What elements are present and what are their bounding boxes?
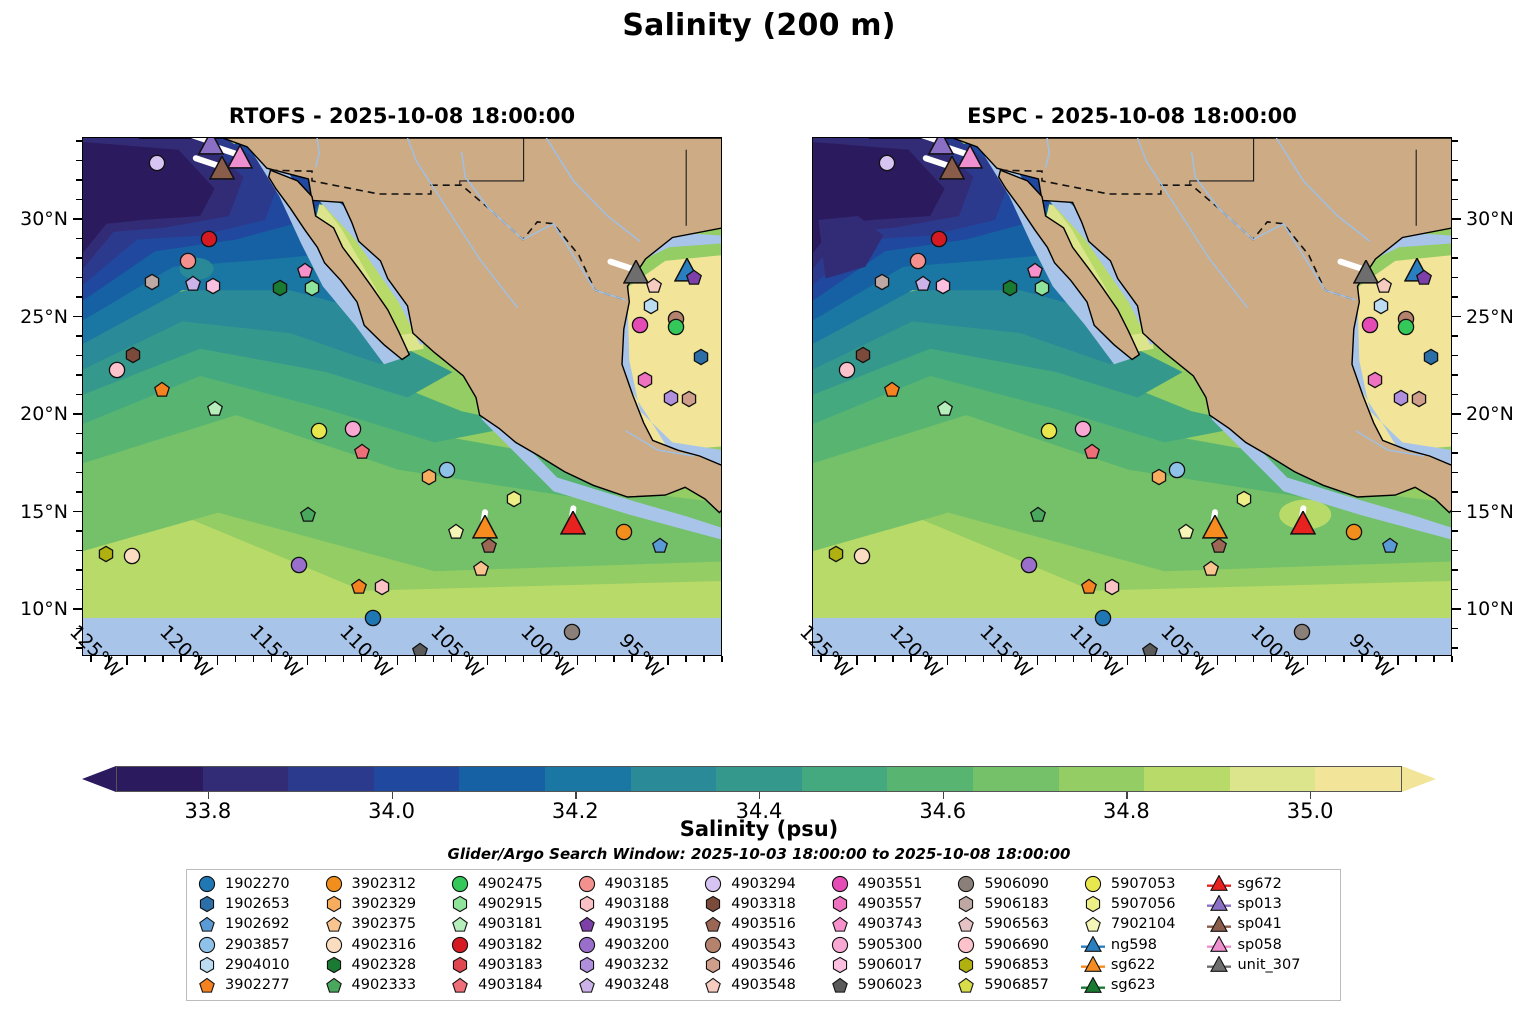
map-marker-4903200[interactable] bbox=[290, 556, 309, 575]
y-axis-tick bbox=[76, 569, 82, 570]
map-marker-4903557[interactable] bbox=[636, 370, 655, 389]
legend-item[interactable]: 2903857 bbox=[195, 935, 322, 955]
legend-item-label: 4903516 bbox=[731, 917, 796, 932]
map-marker-4903200[interactable] bbox=[1020, 556, 1039, 575]
legend-item-label: 1902653 bbox=[225, 897, 290, 912]
colorbar-segment-2 bbox=[288, 767, 374, 791]
legend-item[interactable]: 3902375 bbox=[322, 915, 449, 935]
legend-item-label: 5907056 bbox=[1111, 897, 1176, 912]
x-axis-tick bbox=[343, 656, 344, 662]
map-marker-4902475[interactable] bbox=[667, 318, 686, 337]
map-marker-5907056[interactable] bbox=[504, 489, 523, 508]
legend-item-label: 5906090 bbox=[984, 877, 1049, 892]
map-marker-4903232[interactable] bbox=[661, 388, 680, 407]
legend-item-label: sp013 bbox=[1237, 897, 1281, 912]
y-axis-tick bbox=[1452, 491, 1458, 492]
legend-item[interactable]: 7902104 bbox=[1081, 915, 1208, 935]
colorbar-segment-12 bbox=[1144, 767, 1230, 791]
map-marker-4903195[interactable] bbox=[1415, 269, 1434, 288]
map-marker-3902277b[interactable] bbox=[349, 577, 368, 596]
legend-item-label: 1902692 bbox=[225, 917, 290, 932]
map-marker-4903318[interactable] bbox=[854, 345, 873, 364]
map-marker-1902653[interactable] bbox=[692, 347, 711, 366]
figure-title: Salinity (200 m) bbox=[0, 8, 1518, 43]
legend-item[interactable]: sg622 bbox=[1081, 955, 1208, 975]
map-marker-4903232[interactable] bbox=[1391, 388, 1410, 407]
map-marker-4903546[interactable] bbox=[679, 390, 698, 409]
legend-item[interactable]: 3902277 bbox=[195, 976, 322, 996]
glider-tracks-ESPC bbox=[813, 138, 1452, 656]
y-axis-tick bbox=[1452, 433, 1458, 434]
y-axis-tick bbox=[76, 160, 82, 161]
map-marker-7902104[interactable] bbox=[1177, 523, 1196, 542]
y-axis-tick bbox=[76, 277, 82, 278]
legend-marker-hexagon-icon bbox=[195, 895, 219, 913]
map-marker-sp041[interactable] bbox=[209, 156, 235, 182]
map-marker-3902329[interactable] bbox=[1150, 468, 1169, 487]
map-marker-5906853[interactable] bbox=[827, 544, 846, 563]
map-marker-5905300[interactable] bbox=[344, 419, 363, 438]
map-marker-3902277[interactable] bbox=[153, 380, 172, 399]
map-marker-4903318[interactable] bbox=[124, 345, 143, 364]
y-axis-tick bbox=[1452, 160, 1458, 161]
legend-item[interactable]: 4903318 bbox=[701, 894, 828, 914]
y-axis-tick bbox=[73, 316, 82, 317]
map-marker-5907053[interactable] bbox=[1040, 421, 1059, 440]
map-marker-4903185[interactable] bbox=[178, 251, 197, 270]
x-axis-tick bbox=[595, 656, 596, 662]
legend-item[interactable]: 4903183 bbox=[448, 955, 575, 975]
y-axis-tick bbox=[1452, 374, 1458, 375]
map-marker-sg672[interactable] bbox=[560, 511, 586, 537]
legend-item[interactable]: sg672 bbox=[1207, 874, 1334, 894]
legend-item-label: 4903743 bbox=[858, 917, 923, 932]
colorbar-tick bbox=[1310, 792, 1311, 799]
legend-item-label: 1902270 bbox=[225, 877, 290, 892]
map-marker-4903551[interactable] bbox=[631, 316, 650, 335]
map-marker-sp013[interactable] bbox=[198, 137, 224, 157]
legend-marker-circle-icon bbox=[575, 875, 599, 893]
x-axis-tick bbox=[162, 656, 163, 662]
map-marker-4902915[interactable] bbox=[302, 279, 321, 298]
y-axis-tick bbox=[76, 238, 82, 239]
map-marker-5907053[interactable] bbox=[310, 421, 329, 440]
legend-item[interactable]: 4903195 bbox=[575, 915, 702, 935]
map-marker-5906090[interactable] bbox=[562, 622, 581, 641]
legend-item-label: 4903248 bbox=[605, 978, 670, 993]
colorbar-segment-13 bbox=[1230, 767, 1316, 791]
y-axis-tick bbox=[1452, 238, 1458, 239]
x-axis-tick bbox=[1433, 656, 1434, 662]
map-marker-5906183[interactable] bbox=[142, 273, 161, 292]
legend-item-label: sp041 bbox=[1237, 917, 1281, 932]
y-axis-tick bbox=[76, 394, 82, 395]
panel-title-rtofs: RTOFS - 2025-10-08 18:00:00 bbox=[82, 104, 722, 128]
legend-item[interactable]: 5906183 bbox=[954, 894, 1081, 914]
map-marker-4903181[interactable] bbox=[205, 400, 224, 419]
legend-marker-circle-icon bbox=[322, 936, 346, 954]
map-marker-5906017[interactable] bbox=[933, 277, 952, 296]
map-marker-5907056[interactable] bbox=[1234, 489, 1253, 508]
glider-tracks-RTOFS bbox=[83, 138, 722, 656]
map-marker-sp041[interactable] bbox=[939, 156, 965, 182]
legend-marker-hexagon-icon bbox=[954, 895, 978, 913]
legend-item-label: 3902329 bbox=[352, 897, 417, 912]
map-marker-3902375[interactable] bbox=[472, 560, 491, 579]
legend-marker-hexagon-icon bbox=[954, 956, 978, 974]
map-canvas-espc[interactable] bbox=[812, 137, 1452, 656]
colorbar-segment-14 bbox=[1315, 767, 1401, 791]
y-axis-tick bbox=[76, 296, 82, 297]
y-axis-tick bbox=[1452, 608, 1461, 609]
legend-marker-triangle-icon bbox=[1081, 977, 1105, 995]
legend-item[interactable]: 5906017 bbox=[828, 955, 955, 975]
x-axis-tick bbox=[856, 656, 857, 665]
map-marker-1902692[interactable] bbox=[650, 536, 669, 555]
y-axis-tick bbox=[1452, 511, 1461, 512]
legend-item[interactable]: 4902328 bbox=[322, 955, 449, 975]
legend-item-label: 4903183 bbox=[478, 958, 543, 973]
legend-item-label: 4903185 bbox=[605, 877, 670, 892]
map-marker-4903181[interactable] bbox=[935, 400, 954, 419]
legend-item-label: 5906690 bbox=[984, 938, 1049, 953]
legend-item[interactable]: 3902312 bbox=[322, 874, 449, 894]
map-marker-7902104[interactable] bbox=[447, 523, 466, 542]
legend-item-label: 4902915 bbox=[478, 897, 543, 912]
legend-item-label: 2904010 bbox=[225, 958, 290, 973]
colorbar: 33.834.034.234.434.634.835.0 bbox=[82, 766, 1436, 792]
legend-marker-pentagon-icon bbox=[195, 916, 219, 934]
map-marker-2903857[interactable] bbox=[1168, 460, 1187, 479]
legend-marker-hexagon-icon bbox=[701, 895, 725, 913]
x-axis-tick bbox=[613, 656, 614, 662]
y-axis-tick bbox=[76, 433, 82, 434]
legend-marker-pentagon-icon bbox=[954, 916, 978, 934]
map-marker-4903182[interactable] bbox=[930, 230, 949, 249]
map-marker-4902333[interactable] bbox=[1029, 505, 1048, 524]
colorbar-segment-6 bbox=[631, 767, 717, 791]
map-marker-4903185[interactable] bbox=[908, 251, 927, 270]
map-marker-4903294[interactable] bbox=[147, 154, 166, 173]
x-axis-tick bbox=[144, 656, 145, 662]
legend-item-label: 4903195 bbox=[605, 917, 670, 932]
map-marker-3902277b[interactable] bbox=[1079, 577, 1098, 596]
map-canvas-rtofs[interactable] bbox=[82, 137, 722, 656]
y-axis-tick bbox=[1452, 257, 1458, 258]
legend-marker-hexagon-icon bbox=[828, 956, 852, 974]
legend-item[interactable]: 4903294 bbox=[701, 874, 828, 894]
map-marker-4903743[interactable] bbox=[1025, 261, 1044, 280]
map-marker-4903557[interactable] bbox=[1366, 370, 1385, 389]
legend-item[interactable]: 4903248 bbox=[575, 976, 702, 996]
map-marker-4903516[interactable] bbox=[479, 536, 498, 555]
x-axis-tick bbox=[685, 656, 686, 662]
legend-marker-circle-icon bbox=[954, 875, 978, 893]
y-axis-tick bbox=[1452, 628, 1458, 629]
legend-item[interactable]: 5906853 bbox=[954, 955, 1081, 975]
y-axis-tick bbox=[1452, 394, 1458, 395]
y-axis-label: 20°N bbox=[20, 403, 68, 425]
legend-item[interactable]: 4902475 bbox=[448, 874, 575, 894]
map-marker-sg672[interactable] bbox=[1290, 511, 1316, 537]
x-axis-tick bbox=[523, 656, 524, 662]
legend-marker-circle-icon bbox=[828, 875, 852, 893]
map-marker-5906690[interactable] bbox=[108, 361, 127, 380]
map-marker-4902328[interactable] bbox=[1000, 279, 1019, 298]
legend-item[interactable]: unit_307 bbox=[1207, 955, 1334, 975]
legend-item[interactable]: 4902915 bbox=[448, 894, 575, 914]
y-axis-tick bbox=[1452, 452, 1458, 453]
legend-item[interactable]: 4903185 bbox=[575, 874, 702, 894]
map-marker-5906017[interactable] bbox=[203, 277, 222, 296]
map-marker-4902915[interactable] bbox=[1032, 279, 1051, 298]
legend-marker-pentagon-icon bbox=[828, 916, 852, 934]
map-marker-2903857[interactable] bbox=[438, 460, 457, 479]
legend-marker-circle-icon bbox=[954, 936, 978, 954]
map-marker-5906853[interactable] bbox=[97, 544, 116, 563]
legend-item-label: unit_307 bbox=[1237, 958, 1300, 973]
y-axis-tick bbox=[76, 491, 82, 492]
legend-item[interactable]: 4903188 bbox=[575, 894, 702, 914]
legend-item-label: 5906563 bbox=[984, 917, 1049, 932]
legend-item-label: 4903557 bbox=[858, 897, 923, 912]
map-marker-4903184[interactable] bbox=[1083, 443, 1102, 462]
map-marker-4903188[interactable] bbox=[373, 577, 392, 596]
y-axis-tick bbox=[76, 199, 82, 200]
y-axis-tick bbox=[73, 218, 82, 219]
platform-legend[interactable]: 1902270190265319026922903857290401039022… bbox=[186, 869, 1341, 1001]
map-marker-1902692[interactable] bbox=[1380, 536, 1399, 555]
legend-marker-pentagon-icon bbox=[195, 977, 219, 995]
legend-item[interactable]: sg623 bbox=[1081, 976, 1208, 996]
legend-item[interactable]: 4903548 bbox=[701, 976, 828, 996]
legend-marker-circle-icon bbox=[195, 875, 219, 893]
legend-item[interactable]: 4902333 bbox=[322, 976, 449, 996]
x-axis-tick bbox=[1037, 656, 1038, 665]
legend-item-label: 4902328 bbox=[352, 958, 417, 973]
colorbar-label: Salinity (psu) bbox=[0, 817, 1518, 841]
map-marker-4903248[interactable] bbox=[913, 275, 932, 294]
legend-marker-pentagon-icon bbox=[1081, 916, 1105, 934]
map-marker-1902270[interactable] bbox=[364, 608, 383, 627]
legend-item[interactable]: 4903551 bbox=[828, 874, 955, 894]
legend-item-label: 4903188 bbox=[605, 897, 670, 912]
legend-marker-pentagon-icon bbox=[701, 916, 725, 934]
legend-item[interactable]: 4903546 bbox=[701, 955, 828, 975]
map-marker-1902653[interactable] bbox=[1422, 347, 1441, 366]
x-axis-tick bbox=[1217, 656, 1218, 665]
legend-item[interactable]: 4903184 bbox=[448, 976, 575, 996]
legend-marker-pentagon-icon bbox=[322, 916, 346, 934]
legend-item[interactable]: 5907056 bbox=[1081, 894, 1208, 914]
legend-item[interactable]: 1902653 bbox=[195, 894, 322, 914]
legend-item[interactable]: 4903182 bbox=[448, 935, 575, 955]
map-marker-sp013[interactable] bbox=[928, 137, 954, 157]
map-marker-4903546[interactable] bbox=[1409, 390, 1428, 409]
x-axis-tick bbox=[1397, 656, 1398, 665]
map-marker-1902270[interactable] bbox=[1094, 608, 1113, 627]
legend-marker-triangle-icon bbox=[1207, 895, 1231, 913]
y-axis-tick bbox=[76, 140, 82, 141]
legend-marker-hexagon-icon bbox=[575, 895, 599, 913]
y-axis-tick bbox=[1452, 355, 1458, 356]
map-marker-4902333[interactable] bbox=[299, 505, 318, 524]
x-axis-tick bbox=[1163, 656, 1164, 662]
legend-item[interactable]: 4903543 bbox=[701, 935, 828, 955]
legend-marker-hexagon-icon bbox=[828, 895, 852, 913]
legend-item-label: 4903232 bbox=[605, 958, 670, 973]
x-axis-tick bbox=[325, 656, 326, 662]
map-marker-4902475[interactable] bbox=[1397, 318, 1416, 337]
map-marker-3902277[interactable] bbox=[883, 380, 902, 399]
legend-item[interactable]: 5907053 bbox=[1081, 874, 1208, 894]
legend-item[interactable]: 4903232 bbox=[575, 955, 702, 975]
legend-item-label: 4903543 bbox=[731, 938, 796, 953]
map-marker-4903551[interactable] bbox=[1361, 316, 1380, 335]
legend-marker-hexagon-icon bbox=[322, 895, 346, 913]
legend-item-label: 3902312 bbox=[352, 877, 417, 892]
map-marker-4903743[interactable] bbox=[295, 261, 314, 280]
legend-marker-pentagon-icon bbox=[828, 977, 852, 995]
map-marker-4903188[interactable] bbox=[1103, 577, 1122, 596]
x-axis-tick bbox=[253, 656, 254, 662]
map-marker-4902316[interactable] bbox=[852, 546, 871, 565]
legend-item[interactable]: 4903743 bbox=[828, 915, 955, 935]
legend-item[interactable]: 4903557 bbox=[828, 894, 955, 914]
legend-marker-hexagon-icon bbox=[1081, 895, 1105, 913]
y-axis-label: 25°N bbox=[20, 306, 68, 328]
map-marker-4903195[interactable] bbox=[685, 269, 704, 288]
x-axis-tick bbox=[1253, 656, 1254, 662]
x-axis-tick bbox=[307, 656, 308, 665]
map-marker-2904010[interactable] bbox=[641, 296, 660, 315]
map-panel-espc: ESPC - 2025-10-08 18:00:00 30°N25°N20°N1… bbox=[812, 137, 1452, 656]
legend-marker-circle-icon bbox=[322, 875, 346, 893]
x-axis-tick bbox=[947, 656, 948, 665]
map-marker-5905300[interactable] bbox=[1074, 419, 1093, 438]
map-marker-4903516[interactable] bbox=[1209, 536, 1228, 555]
map-marker-3902312[interactable] bbox=[1344, 523, 1363, 542]
legend-marker-triangle-icon bbox=[1207, 875, 1231, 893]
x-axis-tick bbox=[126, 656, 127, 665]
y-axis-tick bbox=[1452, 335, 1458, 336]
map-marker-5906183[interactable] bbox=[872, 273, 891, 292]
map-marker-4903184[interactable] bbox=[353, 443, 372, 462]
x-axis-tick bbox=[1325, 656, 1326, 662]
map-marker-3902375[interactable] bbox=[1202, 560, 1221, 579]
map-marker-5906690[interactable] bbox=[838, 361, 857, 380]
map-marker-4903182[interactable] bbox=[200, 230, 219, 249]
legend-item[interactable]: 2904010 bbox=[195, 955, 322, 975]
colorbar-tick bbox=[1126, 792, 1127, 799]
y-axis-label: 20°N bbox=[1466, 403, 1514, 425]
legend-item-label: 2903857 bbox=[225, 938, 290, 953]
legend-grid: 1902270190265319026922903857290401039022… bbox=[195, 874, 1334, 996]
map-marker-3902329[interactable] bbox=[420, 468, 439, 487]
map-marker-5906023[interactable] bbox=[411, 642, 430, 656]
colorbar-segment-8 bbox=[802, 767, 888, 791]
legend-item[interactable]: ng598 bbox=[1081, 935, 1208, 955]
y-axis-tick bbox=[1452, 569, 1458, 570]
map-marker-3902312[interactable] bbox=[614, 523, 633, 542]
colorbar-segment-9 bbox=[887, 767, 973, 791]
legend-item[interactable]: 1902692 bbox=[195, 915, 322, 935]
x-axis-tick bbox=[415, 656, 416, 662]
legend-item[interactable]: sp041 bbox=[1207, 915, 1334, 935]
map-marker-4903248[interactable] bbox=[183, 275, 202, 294]
colorbar-segment-11 bbox=[1059, 767, 1145, 791]
map-marker-4903294[interactable] bbox=[877, 154, 896, 173]
y-axis-tick bbox=[1452, 413, 1461, 414]
legend-marker-pentagon-icon bbox=[575, 977, 599, 995]
y-axis-tick bbox=[76, 355, 82, 356]
legend-marker-pentagon-icon bbox=[701, 977, 725, 995]
legend-marker-pentagon-icon bbox=[448, 977, 472, 995]
map-marker-4902328[interactable] bbox=[270, 279, 289, 298]
legend-item-label: 5907053 bbox=[1111, 877, 1176, 892]
map-marker-2904010[interactable] bbox=[1371, 296, 1390, 315]
x-axis-tick bbox=[1145, 656, 1146, 662]
legend-item[interactable]: 1902270 bbox=[195, 874, 322, 894]
colorbar-tick bbox=[943, 792, 944, 799]
legend-marker-circle-icon bbox=[701, 875, 725, 893]
legend-item[interactable]: 5906563 bbox=[954, 915, 1081, 935]
legend-item-label: 4903318 bbox=[731, 897, 796, 912]
y-axis-tick bbox=[76, 589, 82, 590]
legend-item[interactable]: 5906090 bbox=[954, 874, 1081, 894]
legend-item-label: 3902375 bbox=[352, 917, 417, 932]
legend-item[interactable]: 5905300 bbox=[828, 935, 955, 955]
y-axis-tick bbox=[76, 530, 82, 531]
legend-marker-pentagon-icon bbox=[322, 977, 346, 995]
legend-item[interactable]: 5906857 bbox=[954, 976, 1081, 996]
y-axis-tick bbox=[1452, 277, 1458, 278]
legend-marker-hexagon-icon bbox=[448, 956, 472, 974]
y-axis-tick bbox=[1452, 530, 1458, 531]
colorbar-segment-3 bbox=[374, 767, 460, 791]
legend-item[interactable]: 5906690 bbox=[954, 935, 1081, 955]
legend-item[interactable]: 4903181 bbox=[448, 915, 575, 935]
y-axis-label: 15°N bbox=[20, 501, 68, 523]
legend-item-label: 5906017 bbox=[858, 958, 923, 973]
map-marker-4903548[interactable] bbox=[1375, 277, 1394, 296]
legend-item[interactable]: 4902316 bbox=[322, 935, 449, 955]
legend-item[interactable]: 5906023 bbox=[828, 976, 955, 996]
legend-marker-pentagon-icon bbox=[448, 916, 472, 934]
map-marker-4902316[interactable] bbox=[122, 546, 141, 565]
y-axis-label: 10°N bbox=[20, 598, 68, 620]
legend-item[interactable]: sp058 bbox=[1207, 935, 1334, 955]
x-axis-tick bbox=[667, 656, 668, 665]
legend-item[interactable]: 4903516 bbox=[701, 915, 828, 935]
legend-item[interactable]: 3902329 bbox=[322, 894, 449, 914]
legend-item-label: 5906853 bbox=[984, 958, 1049, 973]
legend-marker-circle-icon bbox=[828, 936, 852, 954]
map-marker-4903548[interactable] bbox=[645, 277, 664, 296]
legend-item[interactable]: 4903200 bbox=[575, 935, 702, 955]
map-marker-5906023[interactable] bbox=[1141, 642, 1160, 656]
map-marker-5906090[interactable] bbox=[1292, 622, 1311, 641]
legend-marker-triangle-icon bbox=[1207, 936, 1231, 954]
y-axis-tick bbox=[1452, 218, 1461, 219]
legend-item-label: sg623 bbox=[1111, 978, 1155, 993]
colorbar-under-arrow bbox=[82, 766, 116, 792]
x-axis-tick bbox=[965, 656, 966, 662]
legend-marker-hexagon-icon bbox=[701, 956, 725, 974]
x-axis-tick bbox=[703, 656, 704, 662]
legend-item[interactable]: sp013 bbox=[1207, 894, 1334, 914]
legend-item-label: 4903181 bbox=[478, 917, 543, 932]
